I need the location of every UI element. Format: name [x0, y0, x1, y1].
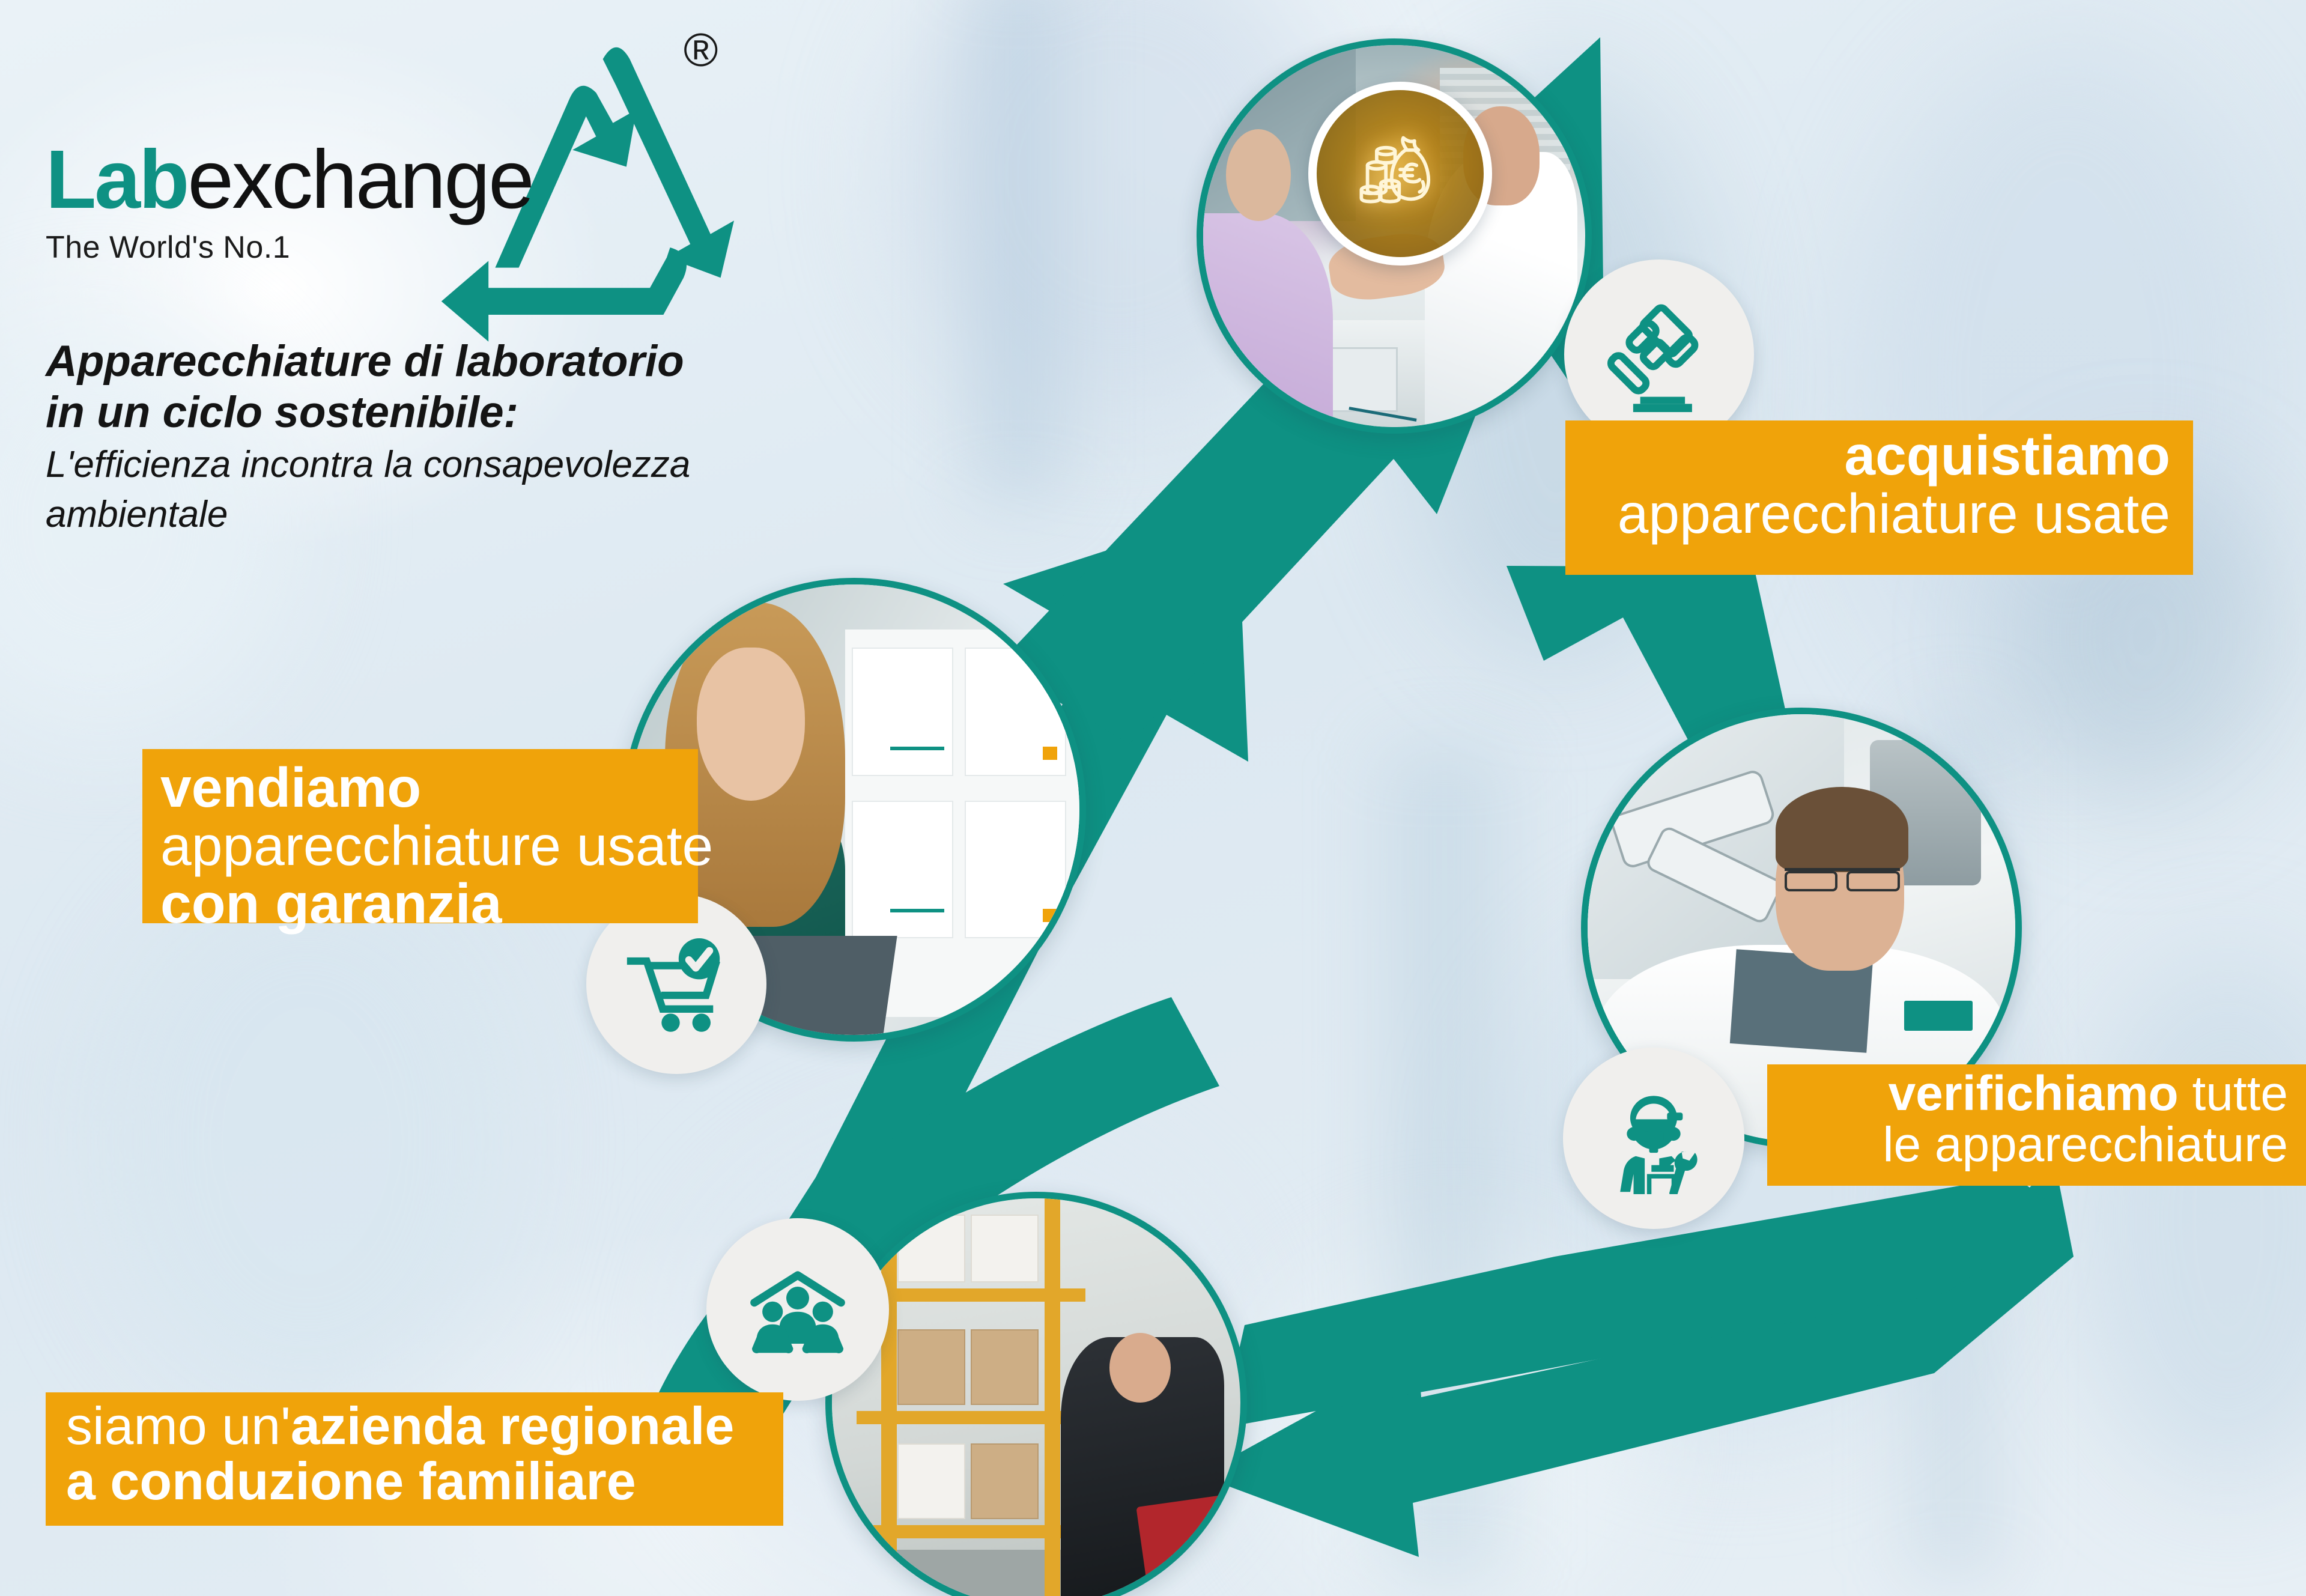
label-verifichiamo-line2: le apparecchiature [1767, 1119, 2288, 1170]
label-verifichiamo-bold: verifichiamo [1889, 1066, 2179, 1121]
headline-line1: Apparecchiature di laboratorio [46, 336, 881, 387]
headline-line2: in un ciclo sostenibile: [46, 387, 881, 438]
wordmark-exchange: exchange [187, 133, 533, 226]
photo-circle-warehouse [825, 1192, 1247, 1596]
label-vendiamo-line1: vendiamo [160, 759, 698, 817]
label-familiare-light: siamo un' [66, 1396, 291, 1455]
label-familiare-line1: siamo un'azienda regionale [66, 1398, 783, 1454]
label-acquistiamo[interactable]: acquistiamo apparecchiature usate [1565, 420, 2193, 575]
headline-sub1: L'efficienza incontra la consapevolezza [46, 443, 881, 487]
registered-trademark-mark: ® [684, 23, 718, 77]
money-bag-euro-badge [1308, 82, 1492, 265]
label-vendiamo-line3: con garanzia [160, 875, 698, 933]
label-verifichiamo[interactable]: verifichiamo tutte le apparecchiature [1767, 1064, 2306, 1186]
label-familiare-bold: azienda regionale [291, 1396, 734, 1455]
money-bag-euro-icon [1349, 123, 1451, 225]
family-under-roof-icon [741, 1252, 855, 1367]
label-vendiamo[interactable]: vendiamo apparecchiature usate con garan… [142, 749, 698, 923]
family-badge [706, 1218, 889, 1401]
label-familiare[interactable]: siamo un'azienda regionale a conduzione … [46, 1392, 783, 1526]
headline-sub2: ambientale [46, 493, 881, 537]
label-familiare-line2: a conduzione familiare [66, 1454, 783, 1509]
label-acquistiamo-line1: acquistiamo [1565, 426, 2170, 485]
gavel-icon [1600, 296, 1718, 413]
shopping-cart-check-icon [619, 927, 733, 1041]
label-verifichiamo-line1: verifichiamo tutte [1767, 1068, 2288, 1119]
technician-badge [1563, 1048, 1744, 1229]
infographic-poster: acquistiamo apparecchiature usate vendia… [0, 0, 2306, 1596]
technician-wrench-icon [1598, 1082, 1710, 1194]
headline-block: Apparecchiature di laboratorio in un cic… [46, 336, 881, 537]
wordmark: Labexchange [46, 138, 784, 221]
label-vendiamo-line2: apparecchiature usate [160, 817, 698, 875]
label-verifichiamo-light: tutte [2179, 1066, 2288, 1121]
label-acquistiamo-line2: apparecchiature usate [1565, 485, 2170, 543]
brand-tagline: The World's No.1 [46, 229, 784, 265]
wordmark-lab: Lab [46, 133, 187, 226]
brand-block: Labexchange The World's No.1 [46, 138, 784, 265]
